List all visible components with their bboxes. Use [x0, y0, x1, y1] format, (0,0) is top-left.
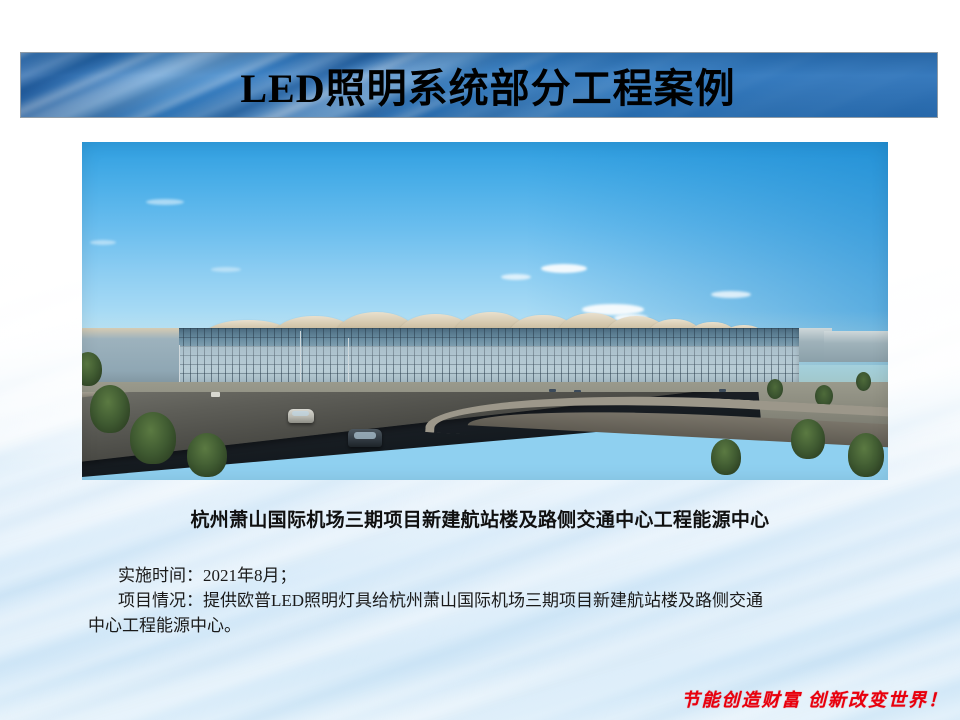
- foreground-car-silver: [288, 409, 314, 423]
- landscape-tree: [856, 372, 871, 391]
- foreground-tree: [848, 433, 884, 477]
- cloud-1: [541, 264, 587, 273]
- project-detail-line-2: 中心工程能源中心。: [88, 613, 858, 638]
- foreground-tree: [187, 433, 227, 477]
- service-vehicle: [211, 392, 220, 397]
- terminal-building: [106, 311, 799, 389]
- foreground-tree: [130, 412, 176, 464]
- project-description: 实施时间：2021年8月； 项目情况：提供欧普LED照明灯具给杭州萧山国际机场三…: [88, 563, 858, 638]
- cloud-2: [501, 274, 531, 280]
- foreground-tree: [791, 419, 825, 459]
- foreground-tree: [90, 385, 130, 433]
- photo-caption: 杭州萧山国际机场三期项目新建航站楼及路侧交通中心工程能源中心: [0, 505, 960, 532]
- foreground-car-dark: [348, 429, 382, 447]
- facade-reflection: [106, 346, 799, 368]
- project-detail-line-1: 项目情况：提供欧普LED照明灯具给杭州萧山国际机场三期项目新建航站楼及路侧交通: [88, 588, 858, 613]
- page-title: LED照明系统部分工程案例: [21, 53, 937, 117]
- photo-content: [82, 142, 888, 480]
- project-photo: [82, 142, 888, 480]
- cloud-8: [711, 291, 751, 298]
- distant-building-3: [824, 331, 888, 361]
- car-window: [292, 411, 309, 416]
- foreground-tree: [711, 439, 741, 475]
- title-banner: LED照明系统部分工程案例: [20, 52, 938, 118]
- terminal-glass-facade: [106, 328, 799, 389]
- car-window: [354, 432, 376, 438]
- slide-root: LED照明系统部分工程案例: [0, 0, 960, 720]
- footer-slogan: 节能创造财富 创新改变世界！: [682, 686, 949, 712]
- cloud-6: [90, 240, 116, 245]
- implementation-date-line: 实施时间：2021年8月；: [88, 563, 858, 588]
